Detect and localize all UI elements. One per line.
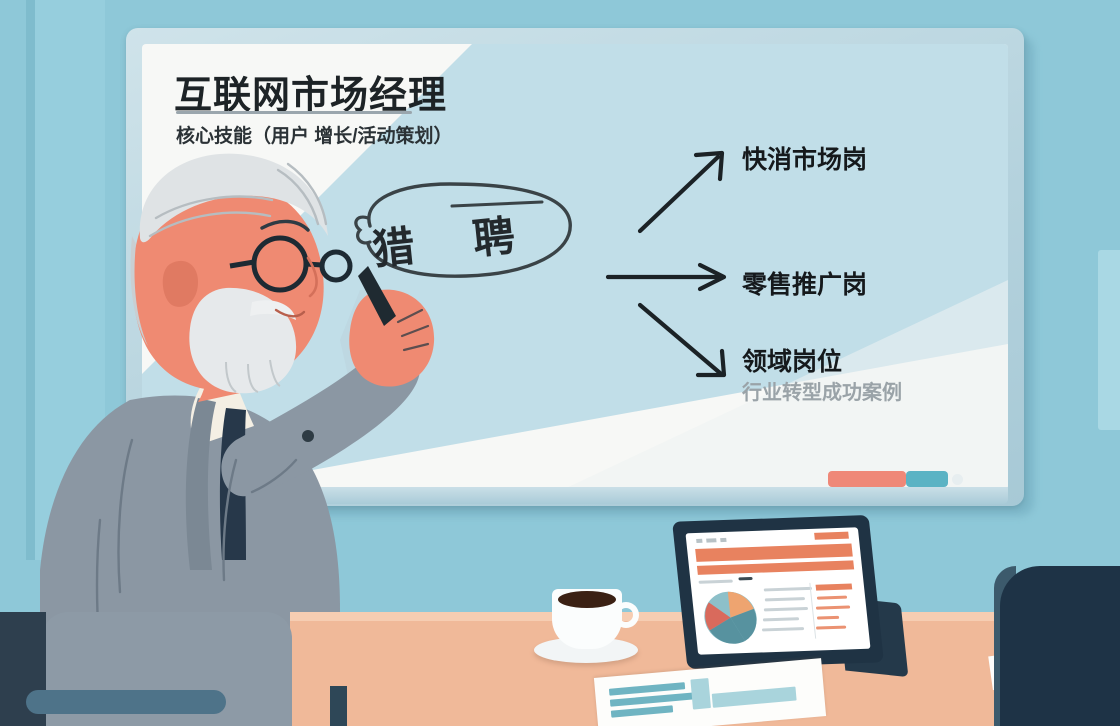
branch-label-2: 零售推广岗 bbox=[742, 265, 867, 301]
board-title-underline bbox=[176, 111, 412, 114]
branch-label-1: 快消市场岗 bbox=[742, 140, 867, 176]
tablet-subheader-bar bbox=[697, 560, 854, 574]
tablet-logo bbox=[814, 532, 849, 540]
wall-stripe bbox=[26, 0, 35, 560]
marker-teal[interactable] bbox=[906, 471, 948, 487]
marker-red[interactable] bbox=[828, 471, 906, 487]
suit-button bbox=[302, 430, 314, 442]
tablet-header-bar bbox=[695, 544, 853, 562]
wall-right-panel bbox=[1098, 250, 1120, 430]
coffee-liquid bbox=[558, 591, 616, 608]
drawing-hand bbox=[349, 290, 434, 387]
chair-left-armrest[interactable] bbox=[26, 690, 226, 714]
arrow-up-right-shaft bbox=[640, 157, 718, 231]
tablet-pie-chart bbox=[700, 589, 762, 647]
arrow-down-right-shaft bbox=[640, 305, 720, 373]
marker-cap[interactable] bbox=[952, 474, 963, 485]
branch-arrows bbox=[600, 135, 760, 385]
tablet-screen[interactable] bbox=[685, 527, 870, 654]
desk-leg bbox=[330, 686, 347, 726]
chair-right[interactable] bbox=[1000, 566, 1120, 726]
branch-sublabel-3: 行业转型成功案例 bbox=[742, 376, 902, 405]
branch-label-3: 领域岗位 bbox=[742, 342, 842, 378]
scene-root: 互联网市场经理 核心技能（用户 增长/活动策划） 猎 聘 快消市场岗 零售推广岗… bbox=[0, 0, 1120, 726]
